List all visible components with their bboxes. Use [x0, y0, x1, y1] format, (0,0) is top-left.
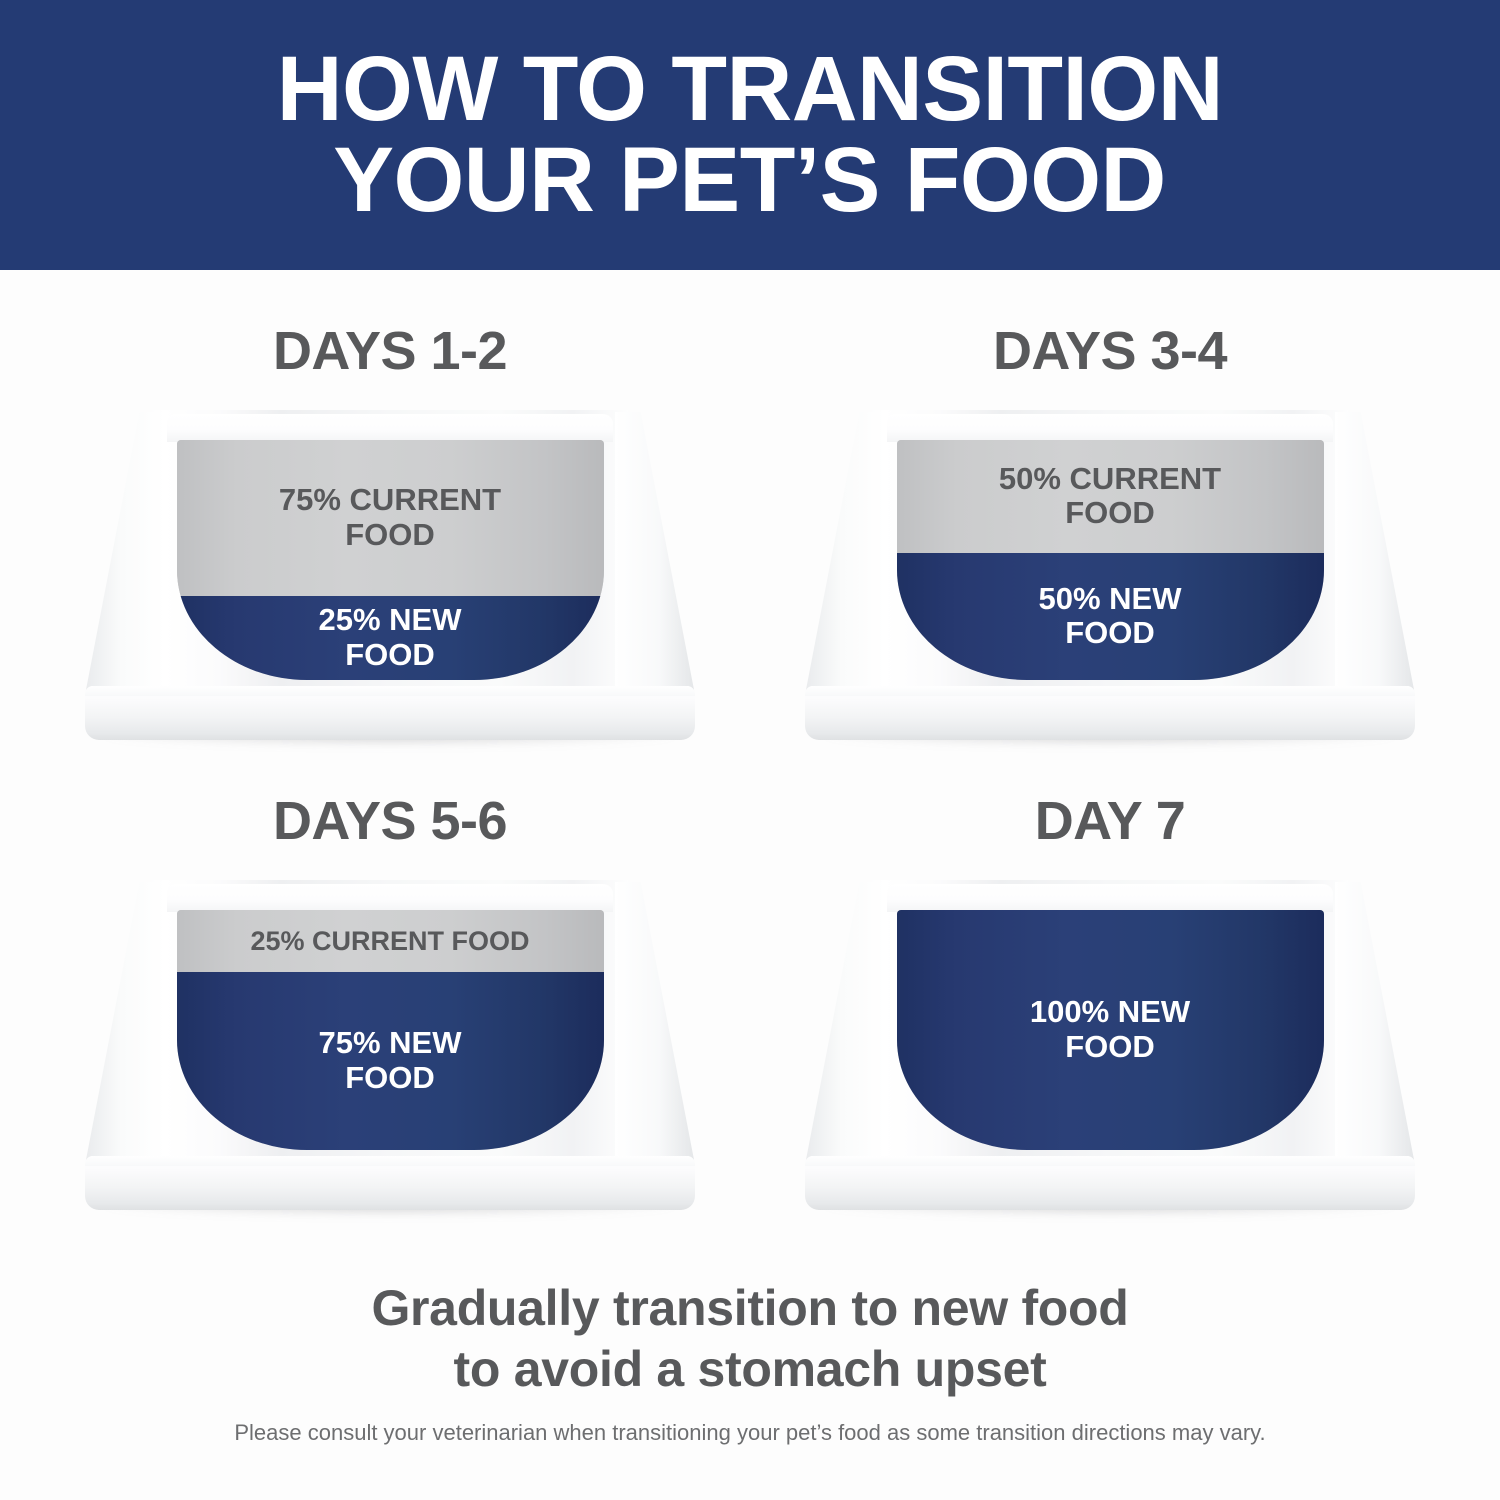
step-title: DAY 7 [760, 790, 1460, 852]
current-food-label: 25% CURRENT FOOD [240, 926, 539, 956]
step-title: DAYS 1-2 [40, 320, 740, 382]
new-food-label: 50% NEW FOOD [1029, 582, 1192, 651]
new-food-portion: 75% NEW FOOD [177, 972, 604, 1150]
new-food-label-line1: 50% NEW [1039, 581, 1182, 616]
step-card-days-1-2: DAYS 1-2 75% CURRENT FOOD [40, 320, 740, 810]
step-card-days-3-4: DAYS 3-4 50% CURRENT FOOD [760, 320, 1460, 810]
new-food-portion: 25% NEW FOOD [177, 596, 604, 680]
new-food-label: 75% NEW FOOD [309, 1026, 472, 1095]
food-fill-area: 25% CURRENT FOOD 75% NEW FOOD [177, 910, 604, 1150]
steps-grid: DAYS 1-2 75% CURRENT FOOD [0, 270, 1500, 1270]
new-food-portion: 50% NEW FOOD [897, 553, 1324, 680]
infographic-page: HOW TO TRANSITION YOUR PET’S FOOD DAYS 1… [0, 0, 1500, 1500]
bowl-illustration: 100% NEW FOOD [805, 880, 1415, 1210]
new-food-label: 25% NEW FOOD [309, 603, 472, 672]
step-card-days-5-6: DAYS 5-6 25% CURRENT FOOD 75 [40, 790, 740, 1280]
footer-line1: Gradually transition to new food [0, 1278, 1500, 1339]
new-food-label-line1: 25% NEW [319, 602, 462, 637]
current-food-label: 50% CURRENT FOOD [989, 462, 1231, 531]
bowl-rim [887, 884, 1332, 912]
new-food-label-line2: FOOD [345, 1060, 435, 1095]
disclaimer-text: Please consult your veterinarian when tr… [0, 1420, 1500, 1446]
bowl-rim [167, 414, 612, 442]
current-food-label-line1: 25% CURRENT FOOD [250, 926, 529, 956]
bowl-base-plate [85, 686, 695, 740]
new-food-portion: 100% NEW FOOD [897, 910, 1324, 1150]
bowl-rim [887, 414, 1332, 442]
current-food-label: 75% CURRENT FOOD [269, 483, 511, 552]
current-food-portion: 25% CURRENT FOOD [177, 910, 604, 972]
current-food-portion: 50% CURRENT FOOD [897, 440, 1324, 553]
bowl-illustration: 25% CURRENT FOOD 75% NEW FOOD [85, 880, 695, 1210]
current-food-label-line1: 50% CURRENT [999, 461, 1221, 496]
food-fill-area: 50% CURRENT FOOD 50% NEW FOOD [897, 440, 1324, 680]
new-food-label-line2: FOOD [345, 637, 435, 672]
new-food-label-line1: 100% NEW [1030, 994, 1190, 1029]
current-food-label-line2: FOOD [345, 517, 435, 552]
header-banner: HOW TO TRANSITION YOUR PET’S FOOD [0, 0, 1500, 270]
bowl-base-plate [805, 1156, 1415, 1210]
new-food-label-line1: 75% NEW [319, 1025, 462, 1060]
bowl-base-plate [805, 686, 1415, 740]
current-food-label-line1: 75% CURRENT [279, 482, 501, 517]
new-food-label-line2: FOOD [1065, 1029, 1155, 1064]
footer-line2: to avoid a stomach upset [0, 1339, 1500, 1400]
bowl-base-plate [85, 1156, 695, 1210]
footer-callout: Gradually transition to new food to avoi… [0, 1278, 1500, 1400]
bowl-rim [167, 884, 612, 912]
bowl-illustration: 50% CURRENT FOOD 50% NEW FOOD [805, 410, 1415, 740]
new-food-label-line2: FOOD [1065, 615, 1155, 650]
food-fill-area: 75% CURRENT FOOD 25% NEW FOOD [177, 440, 604, 680]
step-card-day-7: DAY 7 100% NEW FOOD [760, 790, 1460, 1280]
current-food-portion: 75% CURRENT FOOD [177, 440, 604, 596]
bowl-base-highlight [805, 1156, 1415, 1166]
step-title: DAYS 5-6 [40, 790, 740, 852]
new-food-label: 100% NEW FOOD [1020, 995, 1200, 1064]
bowl-illustration: 75% CURRENT FOOD 25% NEW FOOD [85, 410, 695, 740]
food-fill-area: 100% NEW FOOD [897, 910, 1324, 1150]
bowl-base-highlight [85, 686, 695, 696]
current-food-label-line2: FOOD [1065, 495, 1155, 530]
bowl-base-highlight [805, 686, 1415, 696]
header-title-line2: YOUR PET’S FOOD [334, 135, 1167, 226]
bowl-base-highlight [85, 1156, 695, 1166]
header-title-line1: HOW TO TRANSITION [277, 44, 1223, 135]
step-title: DAYS 3-4 [760, 320, 1460, 382]
